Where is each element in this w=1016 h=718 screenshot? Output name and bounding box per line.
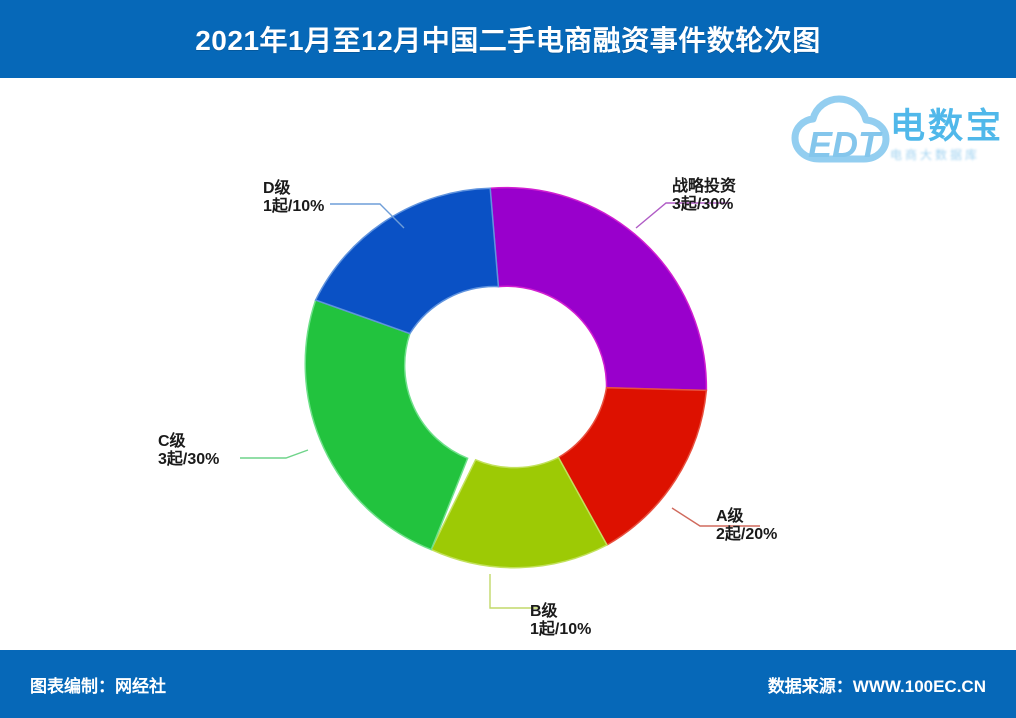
slice-label-value: 3起/30% [158,451,219,469]
slice-c-round[interactable] [305,300,467,550]
leader-line-c [240,450,308,458]
slice-label-d-round: D级 1起/10% [263,180,324,216]
slice-label-c-round: C级 3起/30% [158,433,219,469]
slice-label-name: 战略投资 [672,178,736,196]
slice-label-a-round: A级 2起/20% [716,508,777,544]
slice-label-b-round: B级 1起/10% [530,603,591,639]
donut-chart: 战略投资 3起/30% A级 2起/20% B级 1起/10% C级 3起/30… [0,78,1016,650]
donut-chart-svg [0,78,1016,650]
footer-author: 图表编制：网经社 [30,672,166,697]
slice-label-value: 3起/30% [672,196,736,214]
slice-strategic-investment[interactable] [490,188,706,391]
slice-label-strategic-investment: 战略投资 3起/30% [672,178,736,214]
header-bar: 2021年1月至12月中国二手电商融资事件数轮次图 [0,0,1016,78]
slice-label-name: A级 [716,508,777,526]
slice-label-name: B级 [530,603,591,621]
slice-label-value: 2起/20% [716,526,777,544]
slice-label-name: D级 [263,180,324,198]
slice-label-name: C级 [158,433,219,451]
slice-label-value: 1起/10% [263,198,324,216]
slice-label-value: 1起/10% [530,621,591,639]
footer-bar: 图表编制：网经社 数据来源：WWW.100EC.CN [0,650,1016,718]
page-title: 2021年1月至12月中国二手电商融资事件数轮次图 [195,19,821,59]
footer-source: 数据来源：WWW.100EC.CN [768,672,986,697]
